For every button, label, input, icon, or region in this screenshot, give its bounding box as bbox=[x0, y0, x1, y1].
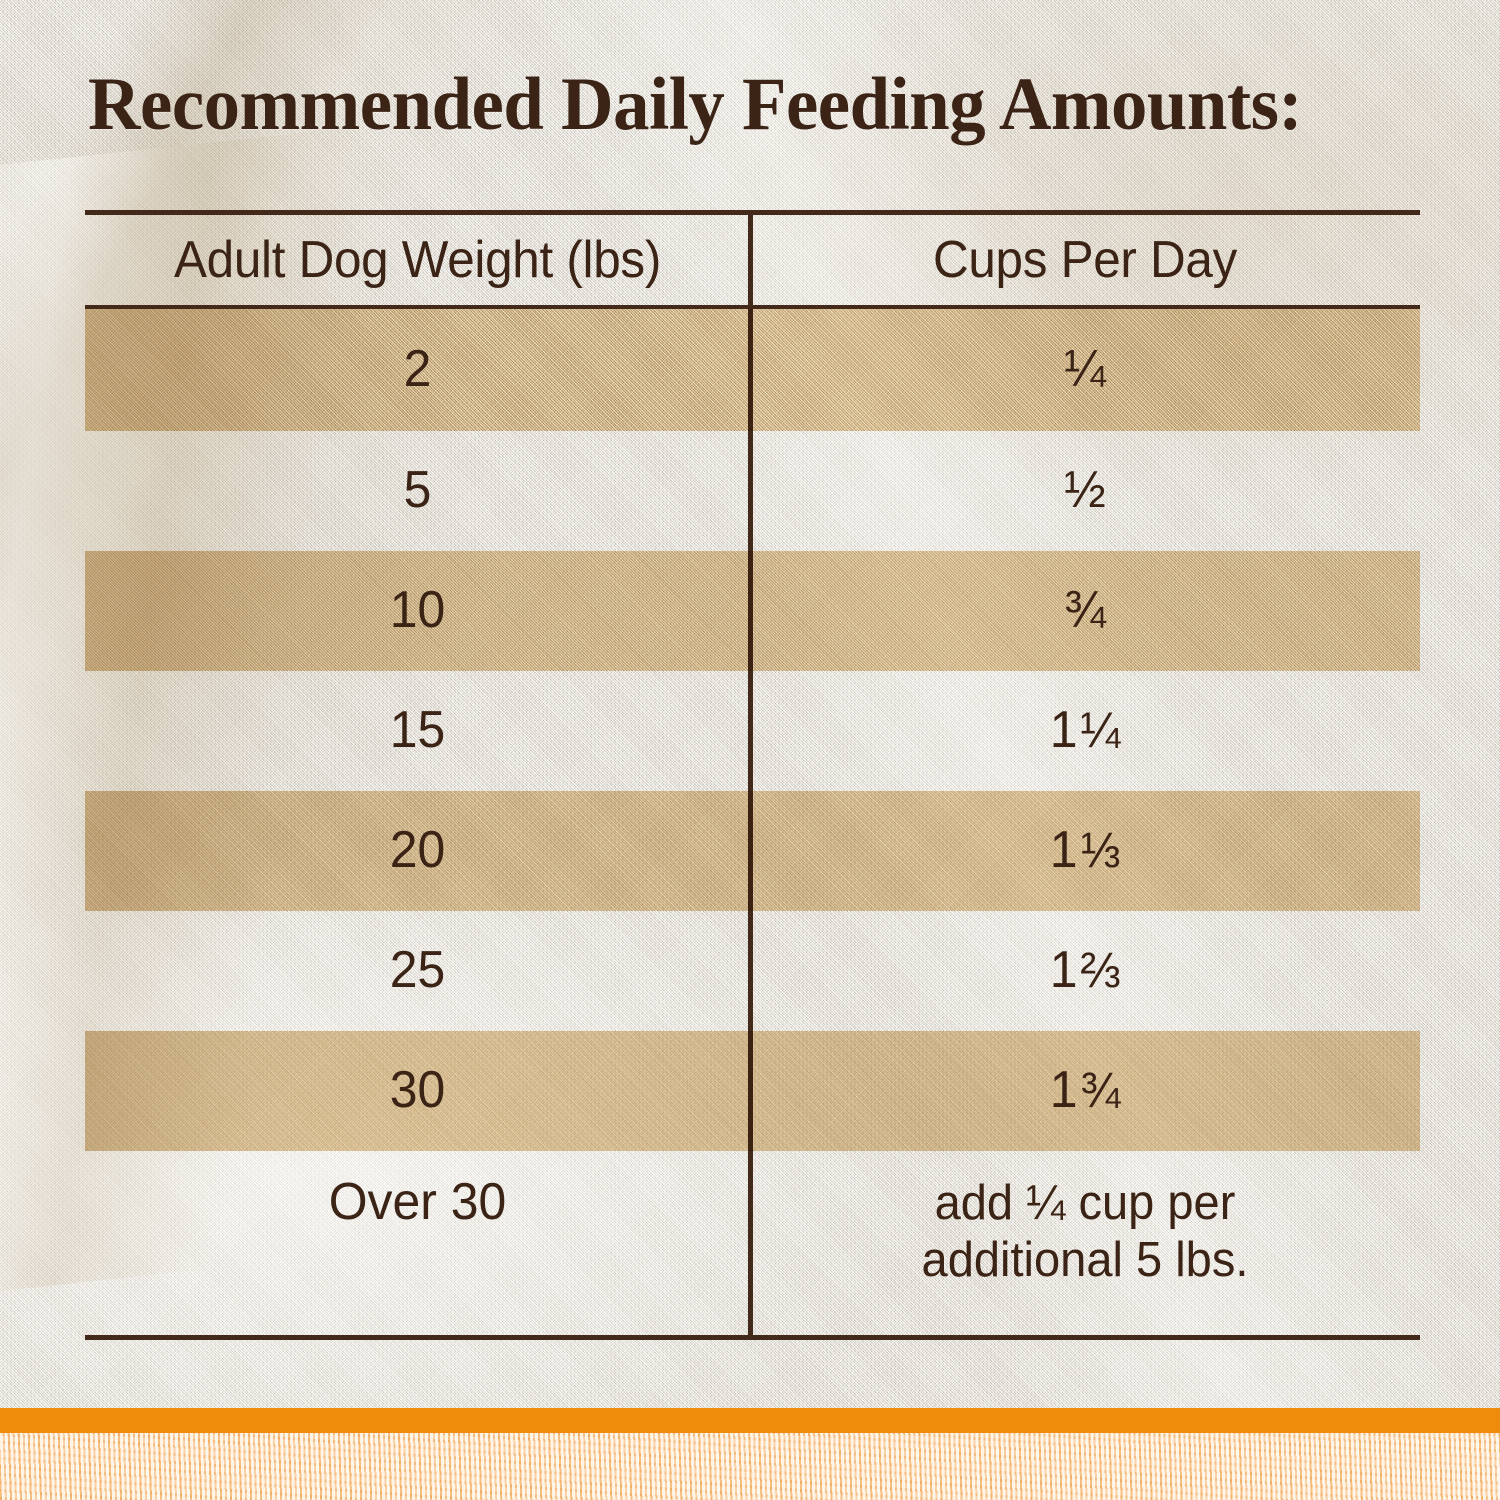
column-header-cups: Cups Per Day bbox=[767, 214, 1404, 306]
table-row: 5 ½ bbox=[85, 431, 1420, 551]
cell-weight: Over 30 bbox=[98, 1151, 736, 1329]
cell-weight: 15 bbox=[98, 671, 736, 791]
feeding-amounts-table: Adult Dog Weight (lbs) Cups Per Day 2 ¼ … bbox=[85, 210, 1420, 1339]
fraction-part: ⅓ bbox=[1080, 824, 1120, 877]
mixed-fraction: 1¼ bbox=[1050, 703, 1121, 758]
mixed-fraction: 1⅓ bbox=[1050, 823, 1121, 878]
orange-accent-bar bbox=[0, 1408, 1500, 1433]
cell-cups: 1⅓ bbox=[763, 791, 1406, 911]
mixed-fraction: 1¾ bbox=[1050, 1063, 1121, 1118]
mixed-fraction: 1⅔ bbox=[1050, 943, 1121, 998]
cups-line-1: add ¼ cup per bbox=[935, 1176, 1236, 1230]
fraction-whole: 1 bbox=[1050, 1063, 1078, 1118]
feeding-chart-page: Recommended Daily Feeding Amounts: Adult… bbox=[0, 0, 1500, 1500]
cell-cups: ½ bbox=[763, 431, 1406, 551]
fraction-whole: 1 bbox=[1050, 823, 1078, 878]
cell-cups: ¼ bbox=[763, 309, 1406, 431]
table-header-row: Adult Dog Weight (lbs) Cups Per Day bbox=[85, 214, 1420, 306]
page-title: Recommended Daily Feeding Amounts: bbox=[88, 63, 1388, 147]
table-row: 25 1⅔ bbox=[85, 911, 1420, 1031]
cell-cups: ¾ bbox=[763, 551, 1406, 671]
cell-weight: 10 bbox=[98, 551, 736, 671]
cell-cups: 1¾ bbox=[763, 1031, 1406, 1151]
cups-line-2: additional 5 lbs. bbox=[922, 1233, 1249, 1287]
table-row: Over 30 add ¼ cup per additional 5 lbs. bbox=[85, 1151, 1420, 1329]
fraction-whole: 1 bbox=[1050, 703, 1078, 758]
column-header-weight: Adult Dog Weight (lbs) bbox=[102, 214, 734, 306]
table-row: 2 ¼ bbox=[85, 309, 1420, 431]
cell-weight: 30 bbox=[98, 1031, 736, 1151]
cell-weight: 20 bbox=[98, 791, 736, 911]
cell-cups: 1¼ bbox=[763, 671, 1406, 791]
fraction-whole: 1 bbox=[1050, 943, 1078, 998]
footer-fabric-band bbox=[0, 1433, 1500, 1500]
cell-weight: 25 bbox=[98, 911, 736, 1031]
fraction-part: ¼ bbox=[1080, 704, 1120, 757]
table-row: 30 1¾ bbox=[85, 1031, 1420, 1151]
cell-weight: 2 bbox=[98, 309, 736, 431]
cell-cups-text: add ¼ cup per additional 5 lbs. bbox=[922, 1175, 1249, 1289]
table-row: 10 ¾ bbox=[85, 551, 1420, 671]
table-row: 20 1⅓ bbox=[85, 791, 1420, 911]
table-body: 2 ¼ 5 ½ 10 ¾ 15 1¼ bbox=[85, 309, 1420, 1335]
cell-cups: add ¼ cup per additional 5 lbs. bbox=[763, 1151, 1406, 1329]
fraction-part: ¾ bbox=[1080, 1064, 1120, 1117]
cell-cups: 1⅔ bbox=[763, 911, 1406, 1031]
cell-weight: 5 bbox=[98, 431, 736, 551]
fraction-part: ⅔ bbox=[1080, 944, 1120, 997]
table-row: 15 1¼ bbox=[85, 671, 1420, 791]
